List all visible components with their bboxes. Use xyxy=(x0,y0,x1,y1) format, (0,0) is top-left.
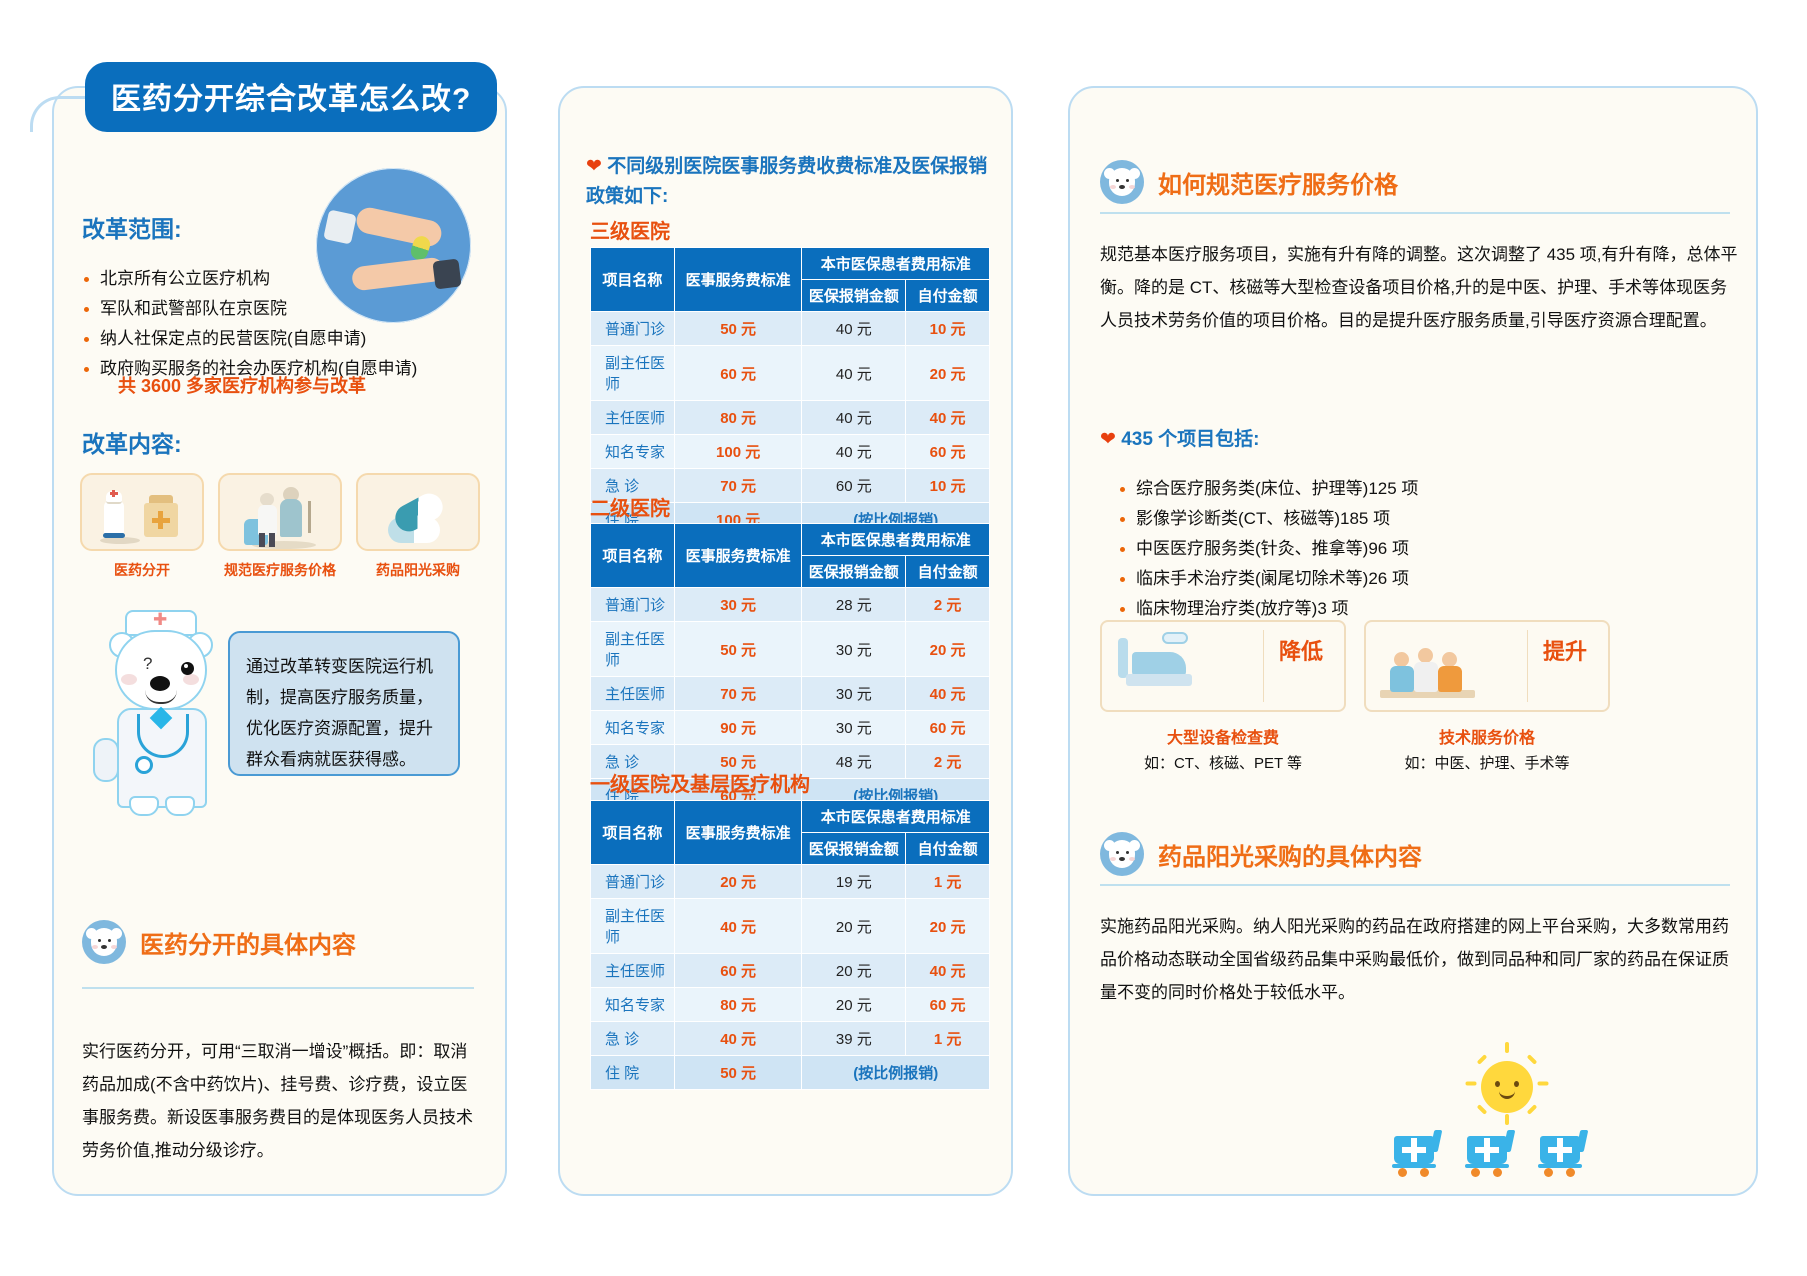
cell-self: 2 元 xyxy=(906,588,990,622)
stethoscope-bell xyxy=(135,756,153,774)
th-standard: 医事服务费标准 xyxy=(674,524,802,588)
th-self: 自付金额 xyxy=(906,280,990,312)
bear-foot-right xyxy=(165,796,195,816)
list-item: 中医医疗服务类(针灸、推拿等)96 项 xyxy=(1118,534,1738,564)
ct-scanner-icon xyxy=(1118,638,1128,678)
increase-caption: 技术服务价格 xyxy=(1364,724,1610,748)
section-header-medicine-separation: 医药分开的具体内容 xyxy=(82,920,356,964)
reform-content-cards: 医药分开 规范医疗服务价格 药品阳光采购 xyxy=(80,473,480,580)
cell-standard: 80 元 xyxy=(674,401,802,435)
cell-standard: 100 元 xyxy=(674,435,802,469)
cell-name: 副主任医师 xyxy=(591,899,675,954)
cell-reimburse: 30 元 xyxy=(802,622,906,677)
th-name: 项目名称 xyxy=(591,524,675,588)
scope-heading: 改革范围: xyxy=(82,210,182,244)
cell-self: 1 元 xyxy=(906,1022,990,1056)
bear-cheek-left xyxy=(121,674,137,685)
cell-self: 40 元 xyxy=(906,954,990,988)
cell-name: 主任医师 xyxy=(591,677,675,711)
price-increase-card: 提升 xyxy=(1364,620,1610,712)
cell-reimburse: 28 元 xyxy=(802,588,906,622)
cell-self: 10 元 xyxy=(906,312,990,346)
heart-icon: ❤ xyxy=(1100,429,1116,450)
cell-self: 60 元 xyxy=(906,988,990,1022)
card-divider xyxy=(1263,630,1264,702)
heading-text: 435 个项目包括: xyxy=(1121,429,1259,450)
cell-name: 副主任医师 xyxy=(591,622,675,677)
list-item: 北京所有公立医疗机构 xyxy=(82,264,482,294)
th-self: 自付金额 xyxy=(906,556,990,588)
sunshine-purchase-body-text: 实施药品阳光采购。纳人阳光采购的药品在政府搭建的网上平台采购，大多数常用药品价格… xyxy=(1100,910,1740,1009)
card-label: 药品阳光采购 xyxy=(356,560,480,580)
section-header-service-price: 如何规范医疗服务价格 xyxy=(1100,160,1398,204)
table-row: 主任医师 80 元 40 元 40 元 xyxy=(591,401,990,435)
list-item: 综合医疗服务类(床位、护理等)125 项 xyxy=(1118,474,1738,504)
cell-reimburse: 20 元 xyxy=(802,899,906,954)
page-title: 医药分开综合改革怎么改? xyxy=(85,62,497,132)
price-adjustment-cards: 降低 提升 xyxy=(1100,620,1610,712)
table-title-secondary: 二级医院 xyxy=(590,492,670,521)
th-self: 自付金额 xyxy=(906,833,990,865)
cell-name: 普通门诊 xyxy=(591,865,675,899)
divider xyxy=(1100,212,1730,214)
table-row: 知名专家 80 元 20 元 60 元 xyxy=(591,988,990,1022)
heading-text: 不同级别医院医事服务费收费标准及医保报销政策如下: xyxy=(586,156,987,207)
bear-avatar-icon xyxy=(1100,160,1144,204)
th-reimburse: 医保报销金额 xyxy=(802,280,906,312)
cell-name: 普通门诊 xyxy=(591,312,675,346)
bear-avatar-icon xyxy=(1100,832,1144,876)
table-row: 普通门诊 20 元 19 元 1 元 xyxy=(591,865,990,899)
cell-reimburse: 40 元 xyxy=(802,435,906,469)
th-group: 本市医保患者费用标准 xyxy=(802,801,990,833)
cell-standard: 70 元 xyxy=(674,677,802,711)
cell-self: 2 元 xyxy=(906,745,990,779)
table-row: 急 诊 40 元 39 元 1 元 xyxy=(591,1022,990,1056)
table-row: 知名专家 90 元 30 元 60 元 xyxy=(591,711,990,745)
cell-standard: 70 元 xyxy=(674,469,802,503)
cell-reimburse: 20 元 xyxy=(802,988,906,1022)
cell-self: 60 元 xyxy=(906,711,990,745)
cell-standard: 60 元 xyxy=(674,346,802,401)
table-row-inpatient: 住 院 50 元 (按比例报销) xyxy=(591,1056,990,1090)
infographic-page: 医药分开综合改革怎么改? 改革范围: 北京所有公立医疗机构 军队和武警部队在京医… xyxy=(0,0,1807,1276)
increase-label: 提升 xyxy=(1538,638,1592,666)
cell-standard: 90 元 xyxy=(674,711,802,745)
bear-avatar-icon xyxy=(82,920,126,964)
cell-name: 知名专家 xyxy=(591,711,675,745)
table-header-row: 项目名称 医事服务费标准 本市医保患者费用标准 xyxy=(591,248,990,280)
cell-name: 主任医师 xyxy=(591,401,675,435)
table-row: 知名专家 100 元 40 元 60 元 xyxy=(591,435,990,469)
table-title-primary: 一级医院及基层医疗机构 xyxy=(590,768,810,797)
polar-bear-mascot: ? xyxy=(95,610,230,820)
bear-eye xyxy=(181,662,194,675)
divider xyxy=(1100,884,1730,886)
cell-reimburse: 60 元 xyxy=(802,469,906,503)
reform-card-service-price[interactable]: 规范医疗服务价格 xyxy=(218,473,342,580)
cell-self: 20 元 xyxy=(906,346,990,401)
cell-standard: 40 元 xyxy=(674,899,802,954)
price-decrease-card: 降低 xyxy=(1100,620,1346,712)
table-title-tertiary: 三级医院 xyxy=(590,215,670,244)
cell-standard: 20 元 xyxy=(674,865,802,899)
cell-self: 60 元 xyxy=(906,435,990,469)
scope-highlight: 共 3600 多家医疗机构参与改革 xyxy=(118,372,366,398)
cell-name: 副主任医师 xyxy=(591,346,675,401)
cell-self: 1 元 xyxy=(906,865,990,899)
section-body-text: 实行医药分开，可用“三取消一增设”概括。即：取消药品加成(不含中药饮片)、挂号费… xyxy=(82,1035,482,1167)
th-standard: 医事服务费标准 xyxy=(674,248,802,312)
cell-standard: 80 元 xyxy=(674,988,802,1022)
fee-table-primary: 项目名称 医事服务费标准 本市医保患者费用标准 医保报销金额 自付金额 普通门诊… xyxy=(590,800,990,1090)
cell-reimburse: 19 元 xyxy=(802,865,906,899)
bear-cheek-right xyxy=(183,674,199,685)
question-mark-icon: ? xyxy=(143,654,152,674)
cell-standard: 50 元 xyxy=(674,1056,802,1090)
sun-icon xyxy=(1481,1061,1533,1113)
table-row: 普通门诊 50 元 40 元 10 元 xyxy=(591,312,990,346)
scope-list: 北京所有公立医疗机构 军队和武警部队在京医院 纳人社保定点的民营医院(自愿申请)… xyxy=(82,264,482,384)
bear-foot-left xyxy=(129,796,159,816)
section-header-sunshine-purchase: 药品阳光采购的具体内容 xyxy=(1100,832,1422,876)
table-row: 副主任医师 50 元 30 元 20 元 xyxy=(591,622,990,677)
capsule-pills-icon xyxy=(356,473,480,551)
decrease-label: 降低 xyxy=(1274,638,1328,666)
cell-self: 20 元 xyxy=(906,622,990,677)
th-name: 项目名称 xyxy=(591,801,675,865)
cell-reimburse: 39 元 xyxy=(802,1022,906,1056)
sun-illustration xyxy=(1472,1052,1542,1122)
section-title: 医药分开的具体内容 xyxy=(140,925,356,960)
service-price-body-text: 规范基本医疗服务项目，实施有升有降的调整。这次调整了 435 项,有升有降，总体… xyxy=(1100,238,1740,337)
cell-reimburse: 40 元 xyxy=(802,312,906,346)
cell-name: 主任医师 xyxy=(591,954,675,988)
mascot-speech-bubble: 通过改革转变医院运行机制，提高医疗服务质量，优化医疗资源配置，提升群众看病就医获… xyxy=(228,631,460,776)
cell-reimburse: 40 元 xyxy=(802,401,906,435)
th-standard: 医事服务费标准 xyxy=(674,801,802,865)
cell-reimburse: 20 元 xyxy=(802,954,906,988)
th-group: 本市医保患者费用标准 xyxy=(802,248,990,280)
cell-name: 知名专家 xyxy=(591,435,675,469)
heart-icon: ❤ xyxy=(586,156,602,177)
bear-nose xyxy=(150,676,170,691)
project-items-list: 综合医疗服务类(床位、护理等)125 项 影像学诊断类(CT、核磁等)185 项… xyxy=(1118,474,1738,624)
cell-name: 普通门诊 xyxy=(591,588,675,622)
shopping-cart-icon-3 xyxy=(1536,1130,1588,1182)
table-header-row: 项目名称 医事服务费标准 本市医保患者费用标准 xyxy=(591,801,990,833)
cell-name: 知名专家 xyxy=(591,988,675,1022)
cell-standard: 50 元 xyxy=(674,312,802,346)
card-divider xyxy=(1527,630,1528,702)
card-label: 医药分开 xyxy=(80,560,204,580)
th-group: 本市医保患者费用标准 xyxy=(802,524,990,556)
card-label: 规范医疗服务价格 xyxy=(218,560,342,580)
table-row: 副主任医师 40 元 20 元 20 元 xyxy=(591,899,990,954)
cell-reimburse: 30 元 xyxy=(802,711,906,745)
table-row: 主任医师 70 元 30 元 40 元 xyxy=(591,677,990,711)
table-row: 副主任医师 60 元 40 元 20 元 xyxy=(591,346,990,401)
th-reimburse: 医保报销金额 xyxy=(802,833,906,865)
increase-sub: 如：中医、护理、手术等 xyxy=(1364,752,1610,773)
items-heading: ❤ 435 个项目包括: xyxy=(1100,425,1260,455)
cell-self: 40 元 xyxy=(906,401,990,435)
decrease-sub: 如：CT、核磁、PET 等 xyxy=(1100,752,1346,773)
cell-standard: 30 元 xyxy=(674,588,802,622)
cell-self: 10 元 xyxy=(906,469,990,503)
cell-reimburse: 30 元 xyxy=(802,677,906,711)
th-name: 项目名称 xyxy=(591,248,675,312)
nurse-patient-icon xyxy=(218,473,342,551)
list-item: 影像学诊断类(CT、核磁等)185 项 xyxy=(1118,504,1738,534)
cell-self: 40 元 xyxy=(906,677,990,711)
section-title: 药品阳光采购的具体内容 xyxy=(1158,837,1422,872)
list-item: 临床手术治疗类(阑尾切除术等)26 项 xyxy=(1118,564,1738,594)
table-row: 主任医师 60 元 20 元 40 元 xyxy=(591,954,990,988)
cell-note: (按比例报销) xyxy=(802,1056,990,1090)
section-title: 如何规范医疗服务价格 xyxy=(1158,165,1398,200)
decrease-caption: 大型设备检查费 xyxy=(1100,724,1346,748)
reform-card-sunshine-purchase[interactable]: 药品阳光采购 xyxy=(356,473,480,580)
doctor-medicine-icon xyxy=(80,473,204,551)
cell-self: 20 元 xyxy=(906,899,990,954)
fee-policy-heading: ❤ 不同级别医院医事服务费收费标准及医保报销政策如下: xyxy=(586,152,991,212)
shopping-cart-icon-1 xyxy=(1390,1130,1442,1182)
cell-standard: 40 元 xyxy=(674,1022,802,1056)
th-reimburse: 医保报销金额 xyxy=(802,556,906,588)
reform-card-medicine-separation[interactable]: 医药分开 xyxy=(80,473,204,580)
table-row: 普通门诊 30 元 28 元 2 元 xyxy=(591,588,990,622)
bear-paw xyxy=(93,738,119,782)
cell-name: 急 诊 xyxy=(591,1022,675,1056)
shopping-cart-icon-2 xyxy=(1463,1130,1515,1182)
cell-reimburse: 40 元 xyxy=(802,346,906,401)
cell-standard: 60 元 xyxy=(674,954,802,988)
cell-name: 住 院 xyxy=(591,1056,675,1090)
table-header-row: 项目名称 医事服务费标准 本市医保患者费用标准 xyxy=(591,524,990,556)
cell-reimburse: 48 元 xyxy=(802,745,906,779)
content-heading: 改革内容: xyxy=(82,425,182,459)
list-item: 纳人社保定点的民营医院(自愿申请) xyxy=(82,324,482,354)
cell-standard: 50 元 xyxy=(674,622,802,677)
list-item: 军队和武警部队在京医院 xyxy=(82,294,482,324)
divider xyxy=(82,987,474,989)
